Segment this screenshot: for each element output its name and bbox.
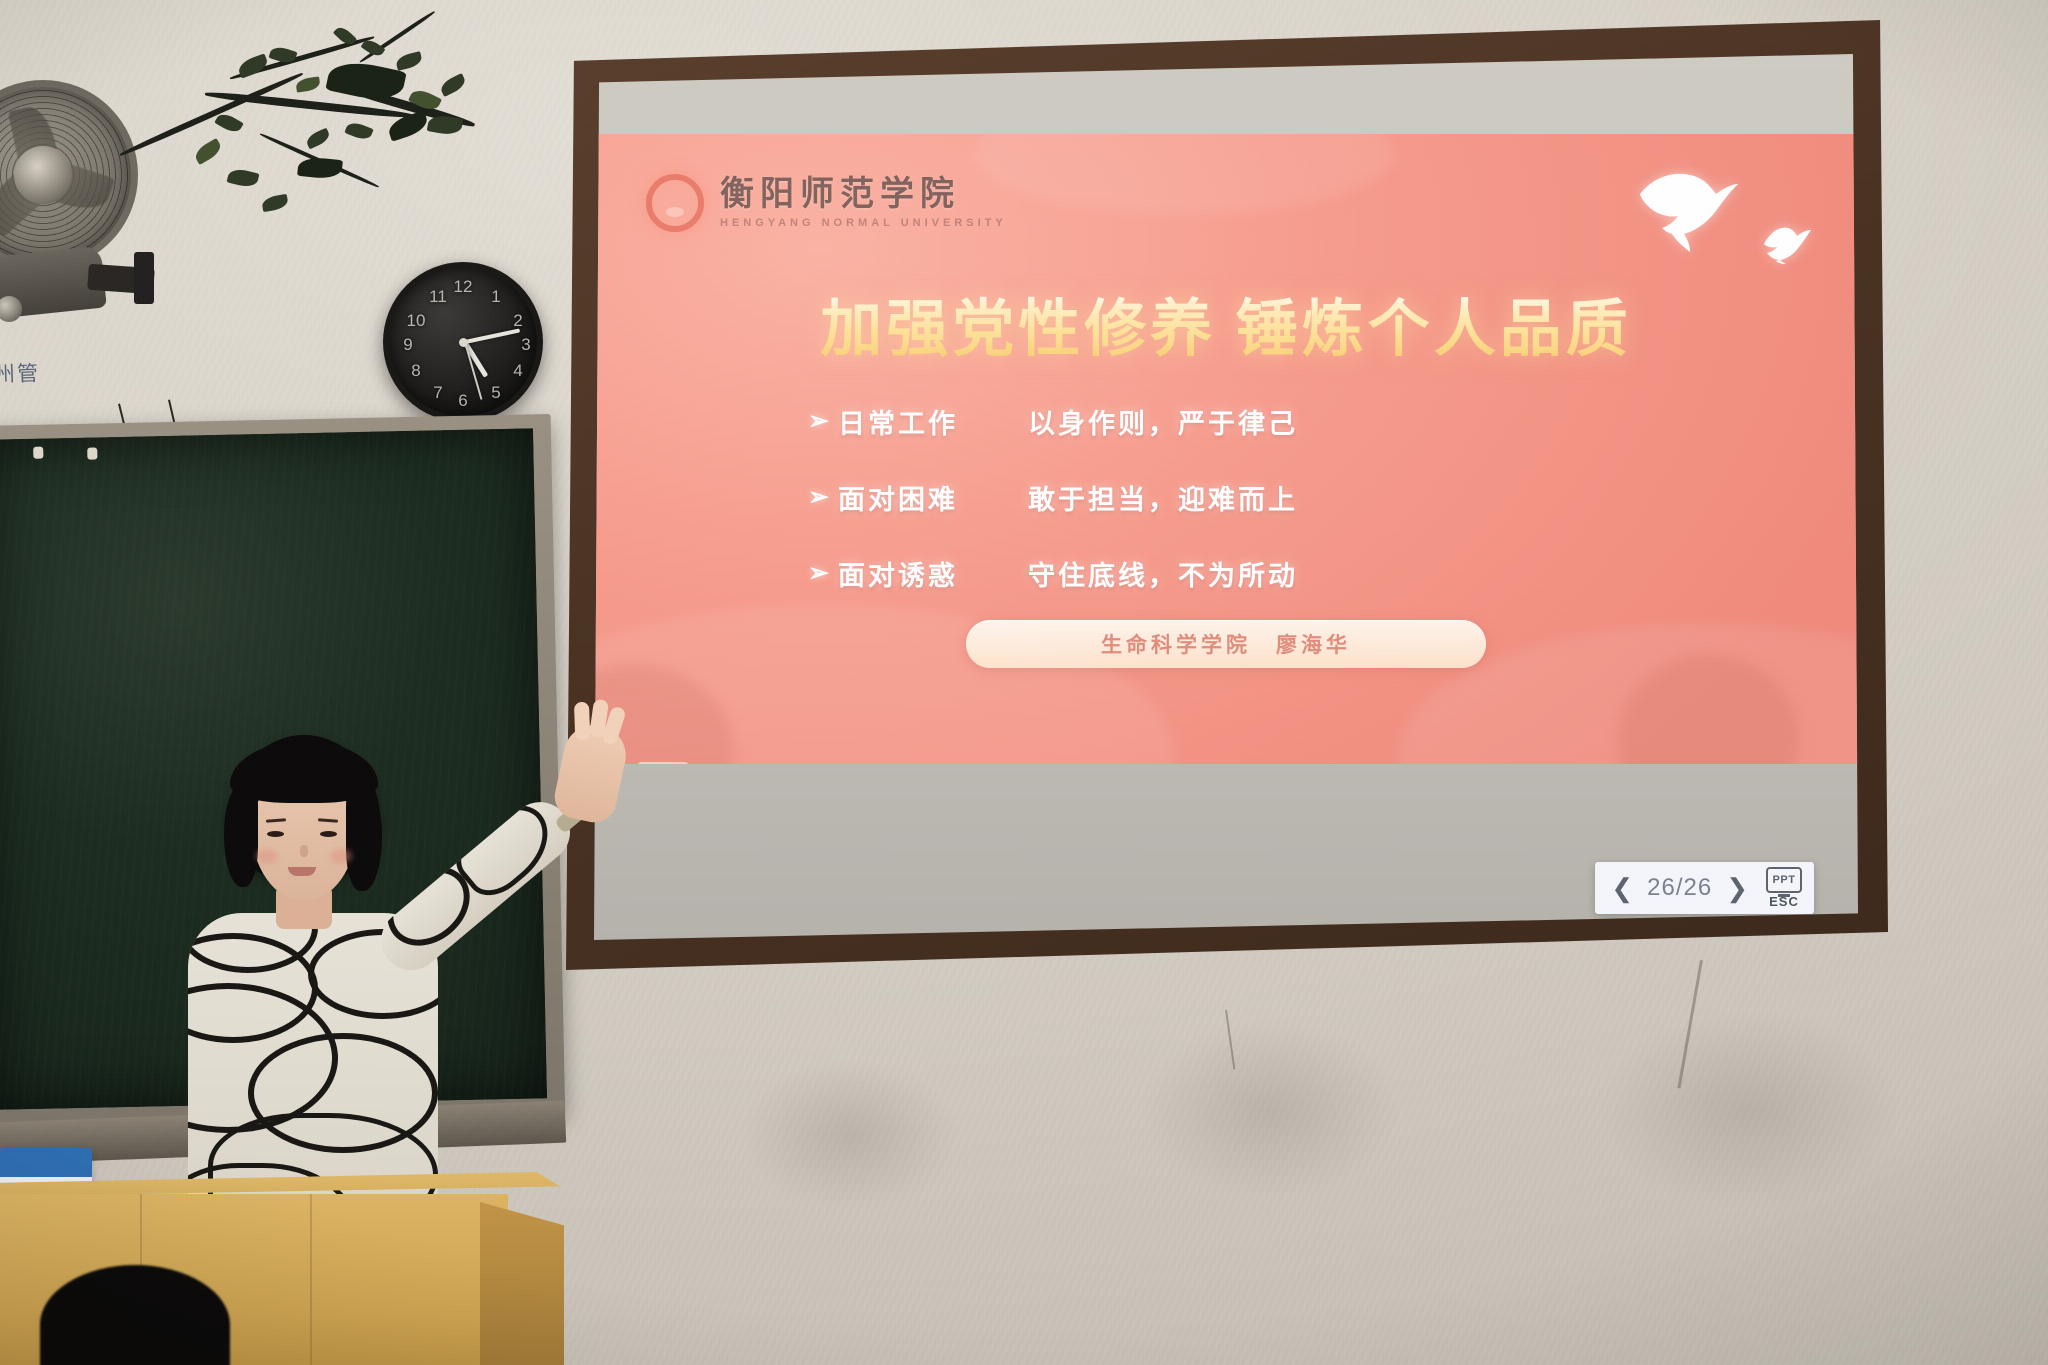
presenter-hair-side	[346, 787, 382, 891]
bullet-value: 以身作则，严于律己	[1028, 402, 1298, 441]
presenter-credit-pill: 生命科学学院 廖海华	[966, 620, 1486, 668]
bullet-key: 面对诱惑	[838, 554, 1028, 593]
wall-smudge	[1600, 1010, 1900, 1210]
powerpoint-slide: 衡阳师范学院 HENGYANG NORMAL UNIVERSITY	[594, 134, 1858, 764]
presenter-credit: 生命科学学院 廖海华	[1101, 629, 1351, 659]
dove-icon	[1760, 220, 1812, 264]
bullet-value: 守住底线，不为所动	[1028, 554, 1298, 593]
slideshow-nav-bar[interactable]: ❮ 26/26 ❯ PPT ESC	[1595, 862, 1814, 914]
clock-numeral: 6	[452, 392, 474, 409]
vine-leaf	[227, 167, 260, 190]
bullet-item: ➢ 面对困难 敢于担当，迎难而上	[808, 478, 1568, 517]
bullet-key: 面对困难	[838, 478, 1028, 517]
clock-numeral: 2	[507, 312, 529, 329]
prev-slide-button[interactable]: ❮	[1611, 875, 1633, 901]
exit-presentation-button[interactable]: PPT ESC	[1766, 867, 1802, 909]
wall-handwriting: 州管	[0, 357, 41, 389]
fan-hub	[14, 146, 72, 204]
vine-leaf	[304, 128, 331, 150]
ppt-label: PPT	[1773, 874, 1796, 886]
classroom-photo: 州管	[0, 0, 2048, 1365]
vine-leaf	[192, 138, 224, 165]
presenter-right-arm	[369, 790, 582, 983]
monitor-icon: PPT	[1766, 867, 1802, 893]
screen-surface: 衡阳师范学院 HENGYANG NORMAL UNIVERSITY	[594, 54, 1858, 940]
vine-leaf	[261, 194, 289, 212]
blackboard-pin	[87, 447, 97, 459]
slide-title: 加强党性修养 锤炼个人品质	[594, 278, 1858, 368]
university-logo: 衡阳师范学院 HENGYANG NORMAL UNIVERSITY	[646, 174, 1007, 232]
vine-leaf	[214, 110, 244, 135]
bullet-key: 日常工作	[838, 402, 1028, 441]
presenter-fringe	[230, 741, 378, 803]
lectern-seam	[310, 1194, 312, 1365]
clock-minute-hand	[463, 328, 521, 344]
arrow-bullet-icon: ➢	[808, 485, 838, 510]
clock-numeral: 12	[452, 278, 474, 295]
clock-center-pin	[459, 338, 468, 347]
arrow-bullet-icon: ➢	[808, 409, 838, 434]
bullet-item: ➢ 日常工作 以身作则，严于律己	[808, 402, 1568, 441]
clock-numeral: 9	[397, 336, 419, 353]
blackboard-pin	[33, 447, 43, 459]
slide-bullet-list: ➢ 日常工作 以身作则，严于律己 ➢ 面对困难 敢于担当，迎难而上 ➢ 面对诱惑…	[808, 402, 1568, 630]
wall-smudge	[1140, 1020, 1400, 1200]
clock-numeral: 3	[515, 336, 537, 353]
cheek	[256, 849, 278, 863]
wall-smudge	[740, 1060, 960, 1210]
projection-screen: 衡阳师范学院 HENGYANG NORMAL UNIVERSITY	[566, 20, 1888, 970]
eye	[267, 831, 284, 837]
fan-knob	[0, 296, 22, 322]
vine-leaf	[236, 53, 270, 78]
university-name-en: HENGYANG NORMAL UNIVERSITY	[720, 217, 1007, 229]
presenter-hair-side	[224, 787, 258, 887]
vine-leaf	[295, 76, 321, 92]
clock-numeral: 8	[405, 362, 427, 379]
presenter-hand	[551, 720, 632, 827]
clock-numeral: 10	[405, 312, 427, 329]
clock-numeral: 7	[427, 384, 449, 401]
clock-numeral: 1	[485, 288, 507, 305]
university-name-cn: 衡阳师范学院	[720, 177, 1007, 213]
vine-leaf	[297, 156, 343, 180]
arrow-bullet-icon: ➢	[808, 561, 838, 586]
finger	[574, 702, 590, 741]
lectern-side-panel	[480, 1202, 564, 1365]
vine-leaf	[395, 51, 424, 71]
slide-wave-decor	[974, 134, 1394, 214]
artificial-vine	[110, 20, 470, 270]
clock-numeral: 11	[427, 288, 449, 305]
eye	[320, 831, 337, 837]
seal-icon	[646, 174, 704, 232]
nose	[300, 845, 308, 857]
dove-icon	[1632, 168, 1740, 252]
bullet-value: 敢于担当，迎难而上	[1028, 478, 1298, 517]
clock-numeral: 5	[485, 384, 507, 401]
vine-leaf	[344, 120, 373, 143]
vine-leaf	[438, 73, 468, 97]
wall-clock: 12 1 2 3 4 5 6 7 8 9 10 11	[383, 262, 543, 422]
cheek	[330, 849, 352, 863]
next-slide-button[interactable]: ❯	[1726, 875, 1748, 901]
bullet-item: ➢ 面对诱惑 守住底线，不为所动	[808, 554, 1568, 593]
slide-counter: 26/26	[1647, 874, 1712, 902]
clock-numeral: 4	[507, 362, 529, 379]
